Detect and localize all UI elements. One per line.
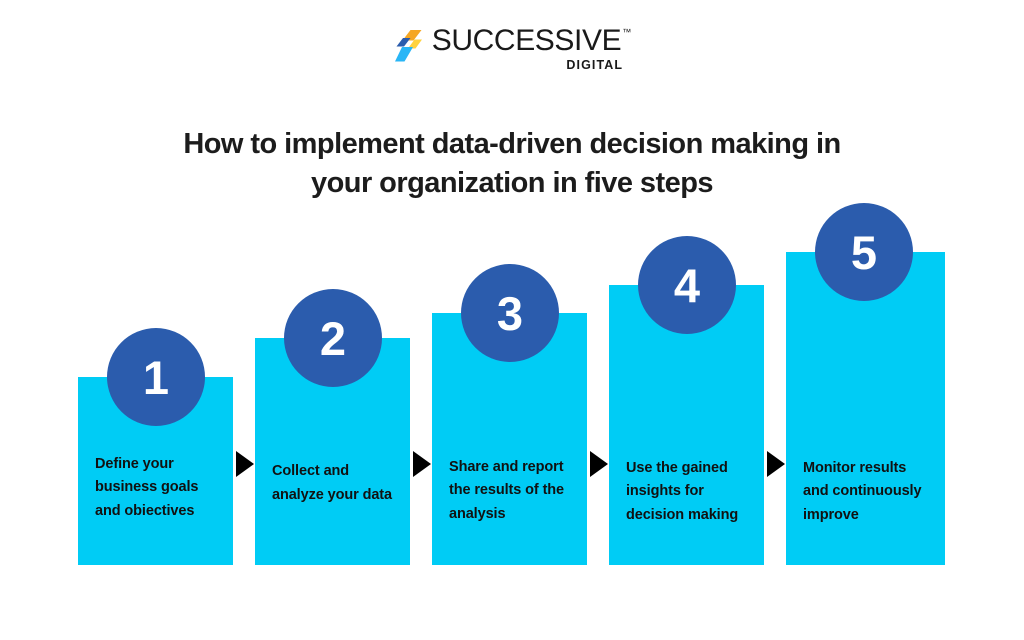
step-label: Define your business goals and obiective…	[95, 453, 221, 523]
step-number: 5	[851, 229, 877, 276]
step-4: Use the gained insights for decision mak…	[609, 285, 764, 565]
step-label: Use the gained insights for decision mak…	[626, 457, 752, 527]
step-number-badge: 2	[284, 289, 382, 387]
step-3: Share and report the results of the anal…	[432, 313, 587, 565]
triangle-right-icon	[590, 451, 608, 477]
step-2: Collect and analyze your data 2	[255, 338, 410, 565]
triangle-right-icon	[236, 451, 254, 477]
step-number: 2	[320, 315, 346, 362]
step-number: 4	[674, 262, 700, 309]
step-number: 3	[497, 290, 523, 337]
step-label: Monitor results and continuously improve	[803, 457, 933, 527]
five-step-bar-chart: Define your business goals and obiective…	[0, 0, 1024, 640]
triangle-right-icon	[413, 451, 431, 477]
step-number-badge: 3	[461, 264, 559, 362]
step-5: Monitor results and continuously improve…	[786, 252, 945, 565]
step-number-badge: 4	[638, 236, 736, 334]
step-number: 1	[143, 354, 169, 401]
step-number-badge: 5	[815, 203, 913, 301]
step-label: Collect and analyze your data	[272, 460, 398, 507]
triangle-right-icon	[767, 451, 785, 477]
step-1: Define your business goals and obiective…	[78, 377, 233, 565]
step-number-badge: 1	[107, 328, 205, 426]
step-label: Share and report the results of the anal…	[449, 456, 575, 526]
